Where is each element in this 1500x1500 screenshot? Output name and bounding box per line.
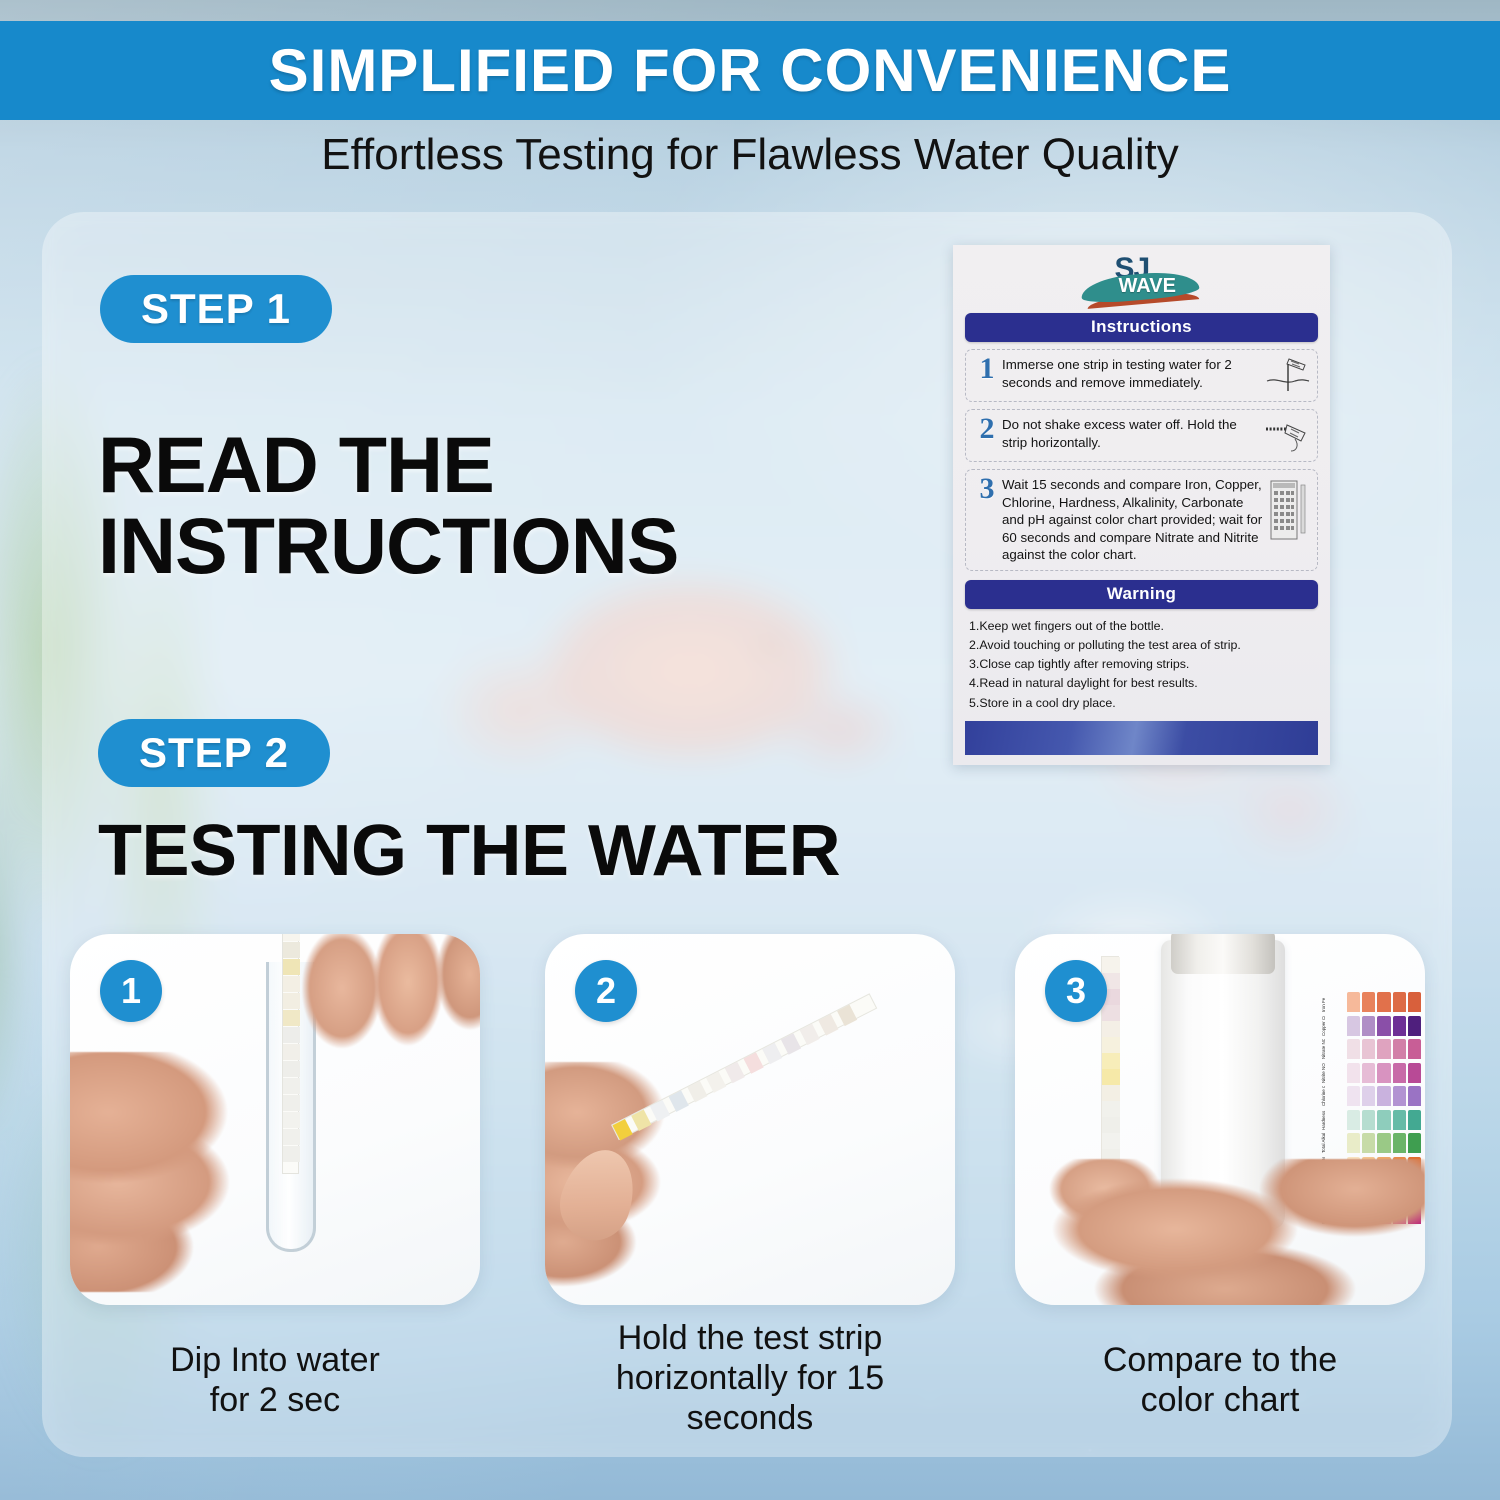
strip-pad	[743, 1052, 763, 1074]
step-2-heading: TESTING THE WATER	[98, 815, 840, 888]
strip-pad	[818, 1014, 838, 1036]
bottle-chart-swatch	[1377, 1086, 1390, 1106]
strip-pad	[781, 1033, 801, 1055]
bottle-chart-swatch	[1347, 1133, 1360, 1153]
strip-pad	[1102, 1053, 1120, 1069]
strip-pad	[1102, 1069, 1120, 1085]
strip-pad	[283, 1010, 300, 1026]
strip-pad	[283, 993, 300, 1009]
strip-in-water-icon	[1265, 355, 1311, 395]
strip-pad	[283, 959, 300, 975]
bottle-chart-swatch	[1362, 1110, 1375, 1130]
bottle-chart-swatch	[1393, 1086, 1406, 1106]
step-2-badge: STEP 2	[98, 719, 330, 787]
bottle-chart-row-label: Total Alkalinity	[1321, 1133, 1347, 1153]
bottle-chart-swatch	[1393, 1039, 1406, 1059]
strip-pad	[762, 1043, 782, 1065]
bottle-chart-swatch	[1408, 1063, 1421, 1083]
card-footer-bar	[965, 721, 1318, 755]
warning-item-4: 4.Read in natural daylight for best resu…	[969, 674, 1316, 693]
caption-line: Dip Into water	[70, 1340, 480, 1380]
bottle-chart-swatch	[1347, 992, 1360, 1012]
strip-pad	[1102, 1021, 1120, 1037]
photo-card-2: 2	[545, 934, 955, 1305]
bottle-chart-swatch	[1362, 1039, 1375, 1059]
bottle-chart-row-label: Nitrate NO3	[1321, 1039, 1347, 1059]
bottle-chart-row-label: Iron Fe	[1321, 992, 1347, 1012]
bottle-chart-swatch	[1347, 1110, 1360, 1130]
photo-card-3-caption: Compare to thecolor chart	[1015, 1340, 1425, 1420]
strip-pad	[687, 1081, 707, 1103]
warning-item-2: 2.Avoid touching or polluting the test a…	[969, 636, 1316, 655]
caption-line: Compare to the	[1015, 1340, 1425, 1380]
bottle-chart-row-label: Nitrite NO2	[1321, 1063, 1347, 1083]
bottle-chart-row-label: Hardness	[1321, 1110, 1347, 1130]
step-1-heading-line-2: INSTRUCTIONS	[98, 506, 679, 587]
strip-pad	[1102, 1101, 1120, 1117]
strip-pad	[283, 942, 300, 958]
instruction-step-1-number: 1	[972, 355, 1002, 384]
bottle-chart-row-label: Chlorine Cl2	[1321, 1086, 1347, 1106]
bottle-chart-swatch	[1393, 992, 1406, 1012]
hand-upper	[302, 934, 480, 1076]
bottle-chart-swatch	[1408, 1016, 1421, 1036]
photo-card-3: 3 Iron FeCopper CuNitrate NO3Nitrite NO2…	[1015, 934, 1425, 1305]
photo-card-2-number: 2	[575, 960, 637, 1022]
instructions-section-title: Instructions	[965, 313, 1318, 342]
bottle-chart-swatch	[1347, 1016, 1360, 1036]
bottle-chart-swatch	[1408, 1133, 1421, 1153]
instruction-step-3-text: Wait 15 seconds and compare Iron, Copper…	[1002, 475, 1265, 564]
bottle-chart-swatch	[1377, 1063, 1390, 1083]
caption-line: color chart	[1015, 1380, 1425, 1420]
color-chart-icon	[1265, 475, 1311, 545]
bottle-chart-swatch	[1377, 1016, 1390, 1036]
photo-card-1: 1	[70, 934, 480, 1305]
step-1-heading-line-1: READ THE	[98, 425, 679, 506]
logo-wave-text: WAVE	[1119, 275, 1176, 298]
strip-pad	[1102, 957, 1120, 973]
instruction-step-3: 3 Wait 15 seconds and compare Iron, Copp…	[965, 469, 1318, 571]
warning-item-5: 5.Store in a cool dry place.	[969, 694, 1316, 713]
bottle-chart-swatch	[1362, 1133, 1375, 1153]
bottle-chart-row-label: Copper Cu	[1321, 1016, 1347, 1036]
bottle-chart-swatch	[1377, 992, 1390, 1012]
bottle-chart-swatch	[1362, 1016, 1375, 1036]
instruction-step-1: 1 Immerse one strip in testing water for…	[965, 349, 1318, 402]
warning-section-title: Warning	[965, 580, 1318, 609]
bottle-chart-swatch	[1347, 1039, 1360, 1059]
bottle-chart-swatch	[1362, 1086, 1375, 1106]
strip-pad	[706, 1071, 726, 1093]
bottle-chart-swatch	[1393, 1063, 1406, 1083]
strip-pad	[283, 934, 300, 941]
page-title: SIMPLIFIED FOR CONVENIENCE	[269, 36, 1232, 105]
bottle-chart-swatch	[1362, 1063, 1375, 1083]
sj-wave-logo: SJ WAVE	[953, 249, 1330, 311]
hands-holding-bottle	[1025, 1159, 1425, 1305]
strip-pad	[1102, 1005, 1120, 1021]
instruction-leaflet-card: SJ WAVE Instructions 1 Immerse one strip…	[953, 245, 1330, 765]
bottle-chart-swatch	[1347, 1063, 1360, 1083]
hand-lower	[70, 1052, 318, 1292]
strip-pad	[1102, 1117, 1120, 1133]
photo-card-1-number: 1	[100, 960, 162, 1022]
bottle-chart-swatch	[1408, 992, 1421, 1012]
photo-card-1-caption: Dip Into waterfor 2 sec	[70, 1340, 480, 1420]
bottle-chart-swatch	[1377, 1110, 1390, 1130]
bottle-chart-swatch	[1377, 1133, 1390, 1153]
strip-pad	[283, 976, 300, 992]
caption-line: horizontally for 15	[545, 1358, 955, 1398]
strip-pad	[1102, 1037, 1120, 1053]
hand-holding-strip-icon	[1265, 415, 1311, 455]
instruction-step-2-number: 2	[972, 415, 1002, 444]
strip-pad	[1102, 1133, 1120, 1149]
instruction-step-2-text: Do not shake excess water off. Hold the …	[1002, 415, 1265, 451]
strip-pad	[1102, 1085, 1120, 1101]
page-subtitle: Effortless Testing for Flawless Water Qu…	[0, 124, 1500, 186]
instruction-step-3-number: 3	[972, 475, 1002, 504]
header-banner: SIMPLIFIED FOR CONVENIENCE	[0, 21, 1500, 120]
strip-pad	[725, 1062, 745, 1084]
bottle-chart-swatch	[1393, 1133, 1406, 1153]
caption-line: for 2 sec	[70, 1380, 480, 1420]
bottle-chart-swatch	[1362, 992, 1375, 1012]
caption-line: seconds	[545, 1398, 955, 1438]
bottle-chart-swatch	[1408, 1039, 1421, 1059]
warning-item-3: 3.Close cap tightly after removing strip…	[969, 655, 1316, 674]
strip-pad	[837, 1005, 857, 1027]
step-1-heading: READ THE INSTRUCTIONS	[98, 425, 679, 586]
strip-pad	[800, 1024, 820, 1046]
bottle-chart-swatch	[1347, 1086, 1360, 1106]
instruction-step-2: 2 Do not shake excess water off. Hold th…	[965, 409, 1318, 462]
instruction-step-1-text: Immerse one strip in testing water for 2…	[1002, 355, 1265, 391]
bottle-cap	[1171, 934, 1275, 974]
bottle-chart-swatch	[1408, 1086, 1421, 1106]
photo-card-3-number: 3	[1045, 960, 1107, 1022]
warning-item-1: 1.Keep wet fingers out of the bottle.	[969, 617, 1316, 636]
caption-line: Hold the test strip	[545, 1318, 955, 1358]
strip-pad	[283, 1027, 300, 1043]
photo-card-2-caption: Hold the test striphorizontally for 15se…	[545, 1318, 955, 1438]
bottle-chart-swatch	[1377, 1039, 1390, 1059]
bottle-chart-swatch	[1393, 1016, 1406, 1036]
bottle-chart-swatch	[1393, 1110, 1406, 1130]
bottle-chart-swatch	[1408, 1110, 1421, 1130]
warning-list: 1.Keep wet fingers out of the bottle. 2.…	[969, 617, 1316, 713]
step-1-badge: STEP 1	[100, 275, 332, 343]
